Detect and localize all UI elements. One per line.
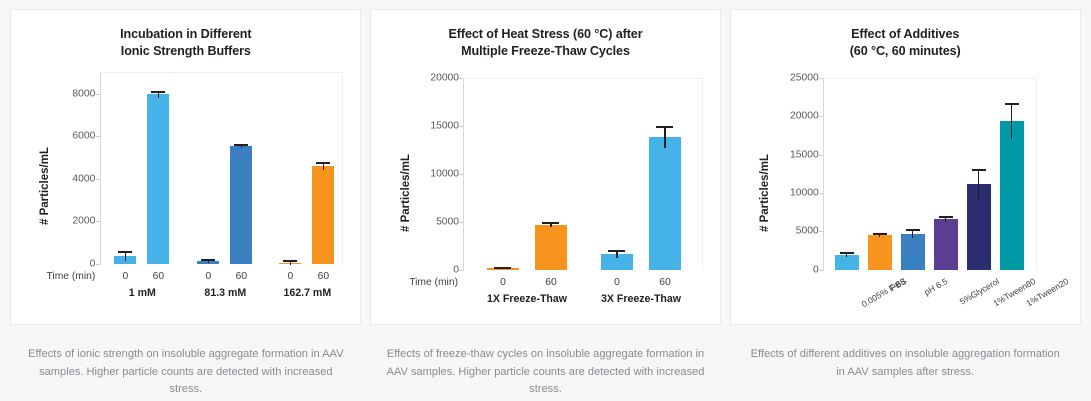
bar-3-1 [868, 235, 892, 270]
panel-caption-3: Effects of different additives on insolu… [746, 346, 1064, 381]
plot-area-1: # Particles/mL 0 2000 4000 6000 8000 [11, 10, 360, 324]
panel-caption-2: Effects of freeze-thaw cycles on insolub… [387, 346, 705, 399]
y-tick-mark-3-0 [819, 270, 823, 271]
plot-area-2: # Particles/mL 0 5000 10000 15000 20000 [371, 10, 720, 324]
errorbar-cap-2-2 [608, 250, 625, 252]
x-tick-label-1-0: 0 [122, 271, 128, 282]
errorbar-cap-1-4 [283, 260, 297, 262]
errorbar-cap-1-1 [151, 91, 165, 93]
panel-caption-1: Effects of ionic strength on insoluble a… [27, 346, 345, 399]
errorbar-cap-1-2 [201, 259, 215, 261]
figure-panels: Incubation in Different Ionic Strength B… [0, 0, 1091, 399]
y-tick-label-3-2: 10000 [771, 188, 819, 199]
y-tick-mark-3-2 [819, 193, 823, 194]
y-tick-mark-2-3 [459, 126, 463, 127]
panel-additives: Effect of Additives (60 °C, 60 minutes) … [729, 9, 1081, 381]
errorbar-cap-2-3 [656, 126, 673, 128]
errorbar-cap-1-3 [234, 144, 248, 146]
x-tick-label-1-5: 60 [318, 271, 329, 282]
x-group-label-2-0: 1X Freeze-Thaw [487, 293, 567, 305]
y-tick-label-2-1: 5000 [411, 217, 459, 228]
errorbar-cap-3-1 [873, 233, 887, 235]
y-tick-mark-3-3 [819, 155, 823, 156]
y-tick-label-2-0: 0 [411, 265, 459, 276]
y-tick-label-2-3: 15000 [411, 121, 459, 132]
bar-3-2 [901, 234, 925, 270]
panel-ionic-strength: Incubation in Different Ionic Strength B… [10, 9, 362, 399]
x-tick-label-2-3: 60 [659, 277, 670, 288]
x-tick-label-2-2: 0 [614, 277, 620, 288]
axes-frame-1 [100, 72, 343, 265]
errorbar-cap-3-3 [939, 216, 953, 218]
x-axis-label-1: Time (min) [29, 271, 95, 282]
errorbar-cap-1-5 [316, 162, 330, 164]
bar-1-5 [312, 166, 334, 264]
x-tick-label-3-2: pH 6.5 [922, 276, 949, 297]
y-tick-label-3-4: 20000 [771, 111, 819, 122]
errorbar-cap-3-4 [972, 169, 986, 171]
y-tick-label-1-2: 4000 [49, 174, 95, 185]
errorbar-cap-2-1 [542, 222, 559, 224]
panel-freeze-thaw: Effect of Heat Stress (60 °C) after Mult… [370, 9, 722, 399]
errorbar-line-3-4 [978, 169, 980, 200]
x-tick-label-2-0: 0 [500, 277, 506, 288]
y-tick-mark-2-4 [459, 78, 463, 79]
y-tick-label-1-3: 6000 [49, 131, 95, 142]
y-axis-label-1: # Particles/mL [39, 147, 51, 225]
y-tick-label-3-5: 25000 [771, 73, 819, 84]
y-tick-mark-2-0 [459, 270, 463, 271]
x-axis-label-2: Time (min) [391, 277, 458, 288]
x-tick-label-1-4: 0 [287, 271, 293, 282]
bar-2-1 [535, 225, 567, 270]
chart-card-3: Effect of Additives (60 °C, 60 minutes) … [730, 9, 1081, 325]
bar-2-3 [649, 137, 681, 270]
y-tick-mark-3-1 [819, 231, 823, 232]
x-tick-label-1-2: 0 [205, 271, 211, 282]
y-tick-label-1-1: 2000 [49, 216, 95, 227]
y-tick-mark-1-2 [96, 179, 100, 180]
chart-card-2: Effect of Heat Stress (60 °C) after Mult… [370, 9, 721, 325]
x-group-label-2-1: 3X Freeze-Thaw [601, 293, 681, 305]
chart-card-1: Incubation in Different Ionic Strength B… [10, 9, 361, 325]
errorbar-cap-1-0 [118, 251, 132, 253]
x-tick-label-3-1: PBS [888, 276, 908, 293]
x-group-label-1-1: 81.3 mM [204, 287, 246, 299]
errorbar-cap-3-5 [1005, 103, 1019, 105]
bar-1-1 [147, 94, 169, 264]
y-tick-mark-1-4 [96, 94, 100, 95]
errorbar-cap-3-2 [906, 229, 920, 231]
errorbar-cap-2-0 [494, 267, 511, 269]
y-tick-mark-2-1 [459, 222, 463, 223]
y-tick-mark-1-1 [96, 221, 100, 222]
bar-3-5 [1000, 121, 1024, 270]
y-tick-label-1-0: 0 [49, 259, 95, 270]
y-tick-label-3-0: 0 [771, 265, 819, 276]
x-tick-label-1-3: 60 [236, 271, 247, 282]
y-axis-label-3: # Particles/mL [759, 154, 771, 232]
y-tick-mark-1-3 [96, 136, 100, 137]
bar-3-3 [934, 219, 958, 270]
errorbar-cap-3-0 [840, 252, 854, 254]
y-tick-mark-3-5 [819, 78, 823, 79]
y-tick-label-1-4: 8000 [49, 89, 95, 100]
x-tick-label-1-1: 60 [153, 271, 164, 282]
bar-1-3 [230, 146, 252, 264]
errorbar-line-2-3 [664, 126, 666, 148]
y-tick-label-3-1: 5000 [771, 226, 819, 237]
errorbar-line-3-5 [1011, 103, 1013, 139]
x-tick-label-2-1: 60 [545, 277, 556, 288]
y-tick-mark-1-0 [96, 264, 100, 265]
x-group-label-1-0: 1 mM [129, 287, 156, 299]
y-tick-label-2-2: 10000 [411, 169, 459, 180]
y-tick-mark-3-4 [819, 116, 823, 117]
y-tick-mark-2-2 [459, 174, 463, 175]
x-group-label-1-2: 162.7 mM [283, 287, 331, 299]
plot-area-3: # Particles/mL 0 5000 10000 15000 20000 … [731, 10, 1080, 324]
y-tick-label-3-3: 15000 [771, 150, 819, 161]
y-tick-label-2-4: 20000 [411, 73, 459, 84]
bar-3-0 [835, 255, 859, 270]
